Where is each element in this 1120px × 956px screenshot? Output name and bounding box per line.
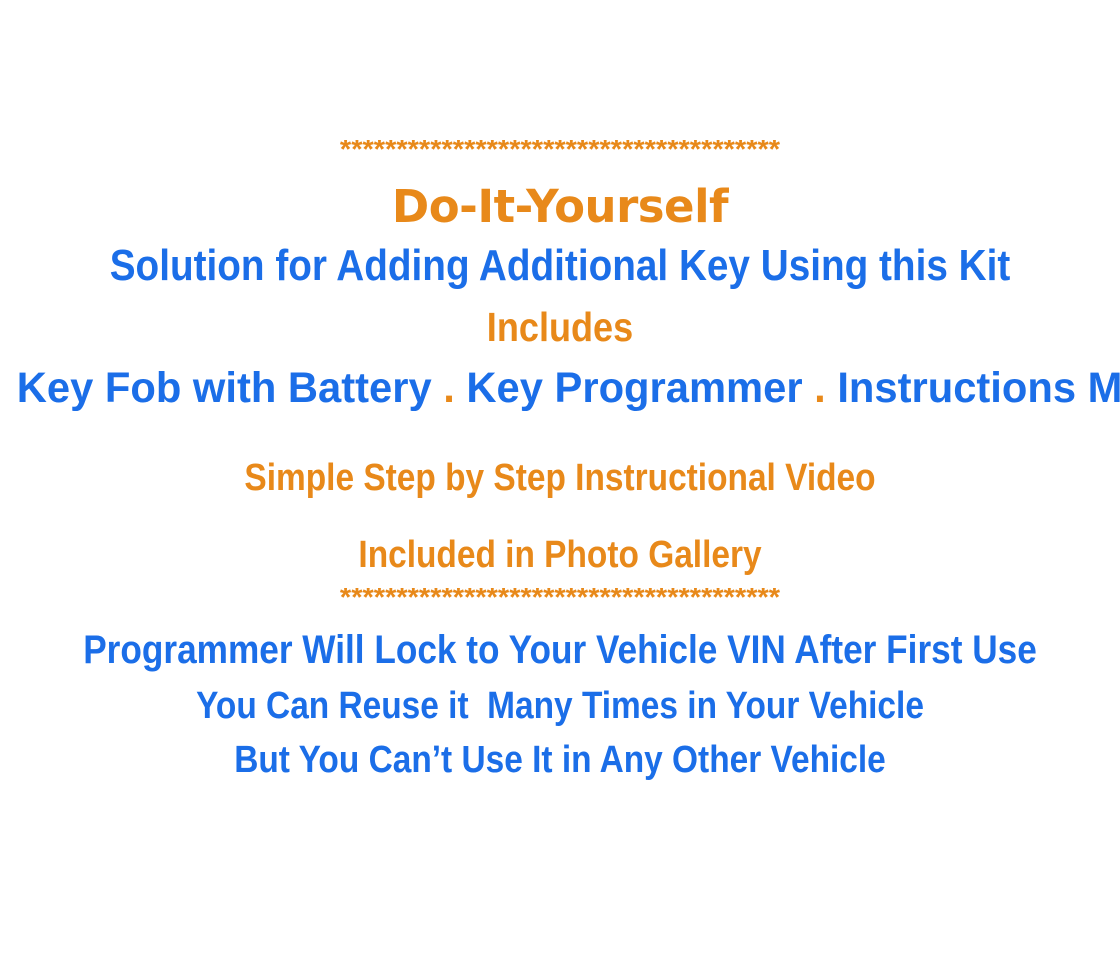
kit-contents-list: Key Fob with Battery . Key Programmer . … <box>17 367 1103 419</box>
asterisk-divider-bottom: *************************************** <box>0 588 1120 618</box>
kit-content-item-key-programmer: Key Programmer <box>466 364 802 412</box>
includes-label: Includes <box>67 307 1053 357</box>
vin-lock-notice: Programmer Will Lock to Your Vehicle VIN… <box>67 630 1053 680</box>
kit-content-item-instructions-manual: Instructions Manual <box>837 364 1120 412</box>
kit-content-item-key-fob: Key Fob with Battery <box>17 364 432 412</box>
subheadline: Solution for Adding Additional Key Using… <box>67 244 1053 298</box>
content-separator-icon: . <box>803 364 838 412</box>
instructional-video-line: Simple Step by Step Instructional Video <box>67 459 1053 507</box>
reuse-notice: You Can Reuse it Many Times in Your Vehi… <box>67 687 1053 734</box>
photo-gallery-line: Included in Photo Gallery <box>67 536 1053 584</box>
vehicle-restriction-notice: But You Can’t Use It in Any Other Vehicl… <box>67 741 1053 788</box>
page-title: Do-It-Yourself <box>0 184 1120 240</box>
content-separator-icon: . <box>432 364 467 412</box>
asterisk-divider-top: *************************************** <box>0 140 1120 170</box>
promotional-text-block: *************************************** … <box>0 0 1120 788</box>
